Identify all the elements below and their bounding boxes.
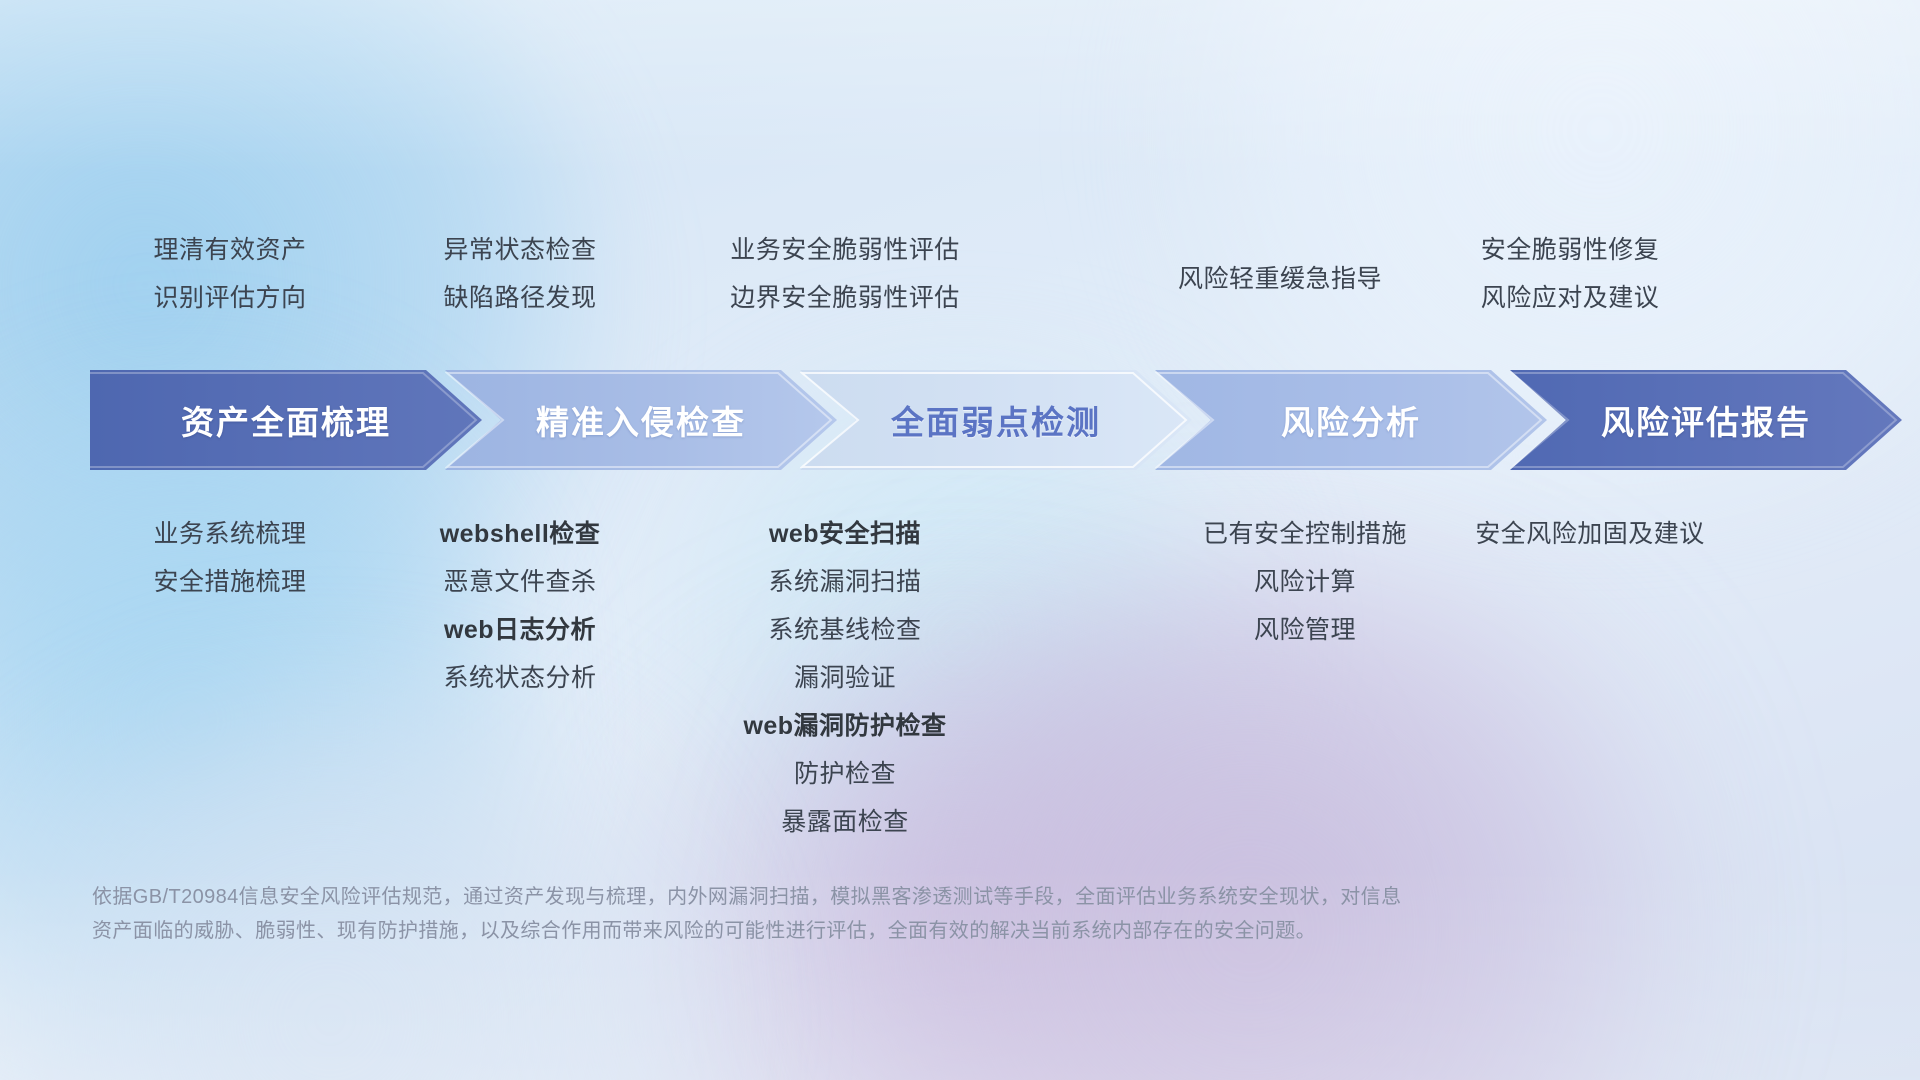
bottom-line: 系统基线检查 bbox=[630, 606, 1060, 654]
stage-label: 风险评估报告 bbox=[1601, 396, 1811, 444]
top-line: 安全脆弱性修复 bbox=[1370, 226, 1770, 274]
stage-arrow-weakness-detection[interactable]: 全面弱点检测 bbox=[800, 370, 1192, 470]
top-line: 边界安全脆弱性评估 bbox=[630, 274, 1060, 322]
top-line: 业务安全脆弱性评估 bbox=[630, 226, 1060, 274]
bottom-line: 安全风险加固及建议 bbox=[1370, 510, 1810, 558]
process-diagram: 理清有效资产 识别评估方向 异常状态检查 缺陷路径发现 业务安全脆弱性评估 边界… bbox=[0, 0, 1920, 1080]
stage-label: 精准入侵检查 bbox=[536, 396, 746, 444]
top-line: 风险应对及建议 bbox=[1370, 274, 1770, 322]
bottom-line: 暴露面检查 bbox=[630, 798, 1060, 846]
stage-arrow-risk-analysis[interactable]: 风险分析 bbox=[1155, 370, 1547, 470]
bottom-line: 风险计算 bbox=[1115, 558, 1495, 606]
bottom-line: web漏洞防护检查 bbox=[630, 702, 1060, 750]
stage-arrow-asset-inventory[interactable]: 资产全面梳理 bbox=[90, 370, 482, 470]
stage-top-text-weakness-detection: 业务安全脆弱性评估 边界安全脆弱性评估 bbox=[630, 226, 1060, 322]
footer-line-2: 资产面临的威胁、脆弱性、现有防护措施，以及综合作用而带来风险的可能性进行评估，全… bbox=[92, 914, 1592, 948]
footer-line-1: 依据GB/T20984信息安全风险评估规范，通过资产发现与梳理，内外网漏洞扫描，… bbox=[92, 880, 1592, 914]
bottom-line: 风险管理 bbox=[1115, 606, 1495, 654]
stage-top-text-assessment-report: 安全脆弱性修复 风险应对及建议 bbox=[1370, 226, 1770, 322]
stage-bottom-text-weakness-detection: web安全扫描 系统漏洞扫描 系统基线检查 漏洞验证 web漏洞防护检查 防护检… bbox=[630, 510, 1060, 846]
bottom-line: 漏洞验证 bbox=[630, 654, 1060, 702]
stage-arrow-assessment-report[interactable]: 风险评估报告 bbox=[1510, 370, 1902, 470]
stage-label: 风险分析 bbox=[1281, 396, 1421, 444]
bottom-line: 防护检查 bbox=[630, 750, 1060, 798]
footer-description: 依据GB/T20984信息安全风险评估规范，通过资产发现与梳理，内外网漏洞扫描，… bbox=[92, 880, 1592, 948]
stage-bottom-text-assessment-report: 安全风险加固及建议 bbox=[1370, 510, 1810, 558]
stage-label: 全面弱点检测 bbox=[891, 396, 1101, 444]
stage-label: 资产全面梳理 bbox=[181, 396, 391, 444]
bottom-line: web安全扫描 bbox=[630, 510, 1060, 558]
process-arrow-banner: 资产全面梳理 精准入侵检查 bbox=[90, 370, 1843, 470]
bottom-line: 系统漏洞扫描 bbox=[630, 558, 1060, 606]
stage-arrow-intrusion-check[interactable]: 精准入侵检查 bbox=[445, 370, 837, 470]
